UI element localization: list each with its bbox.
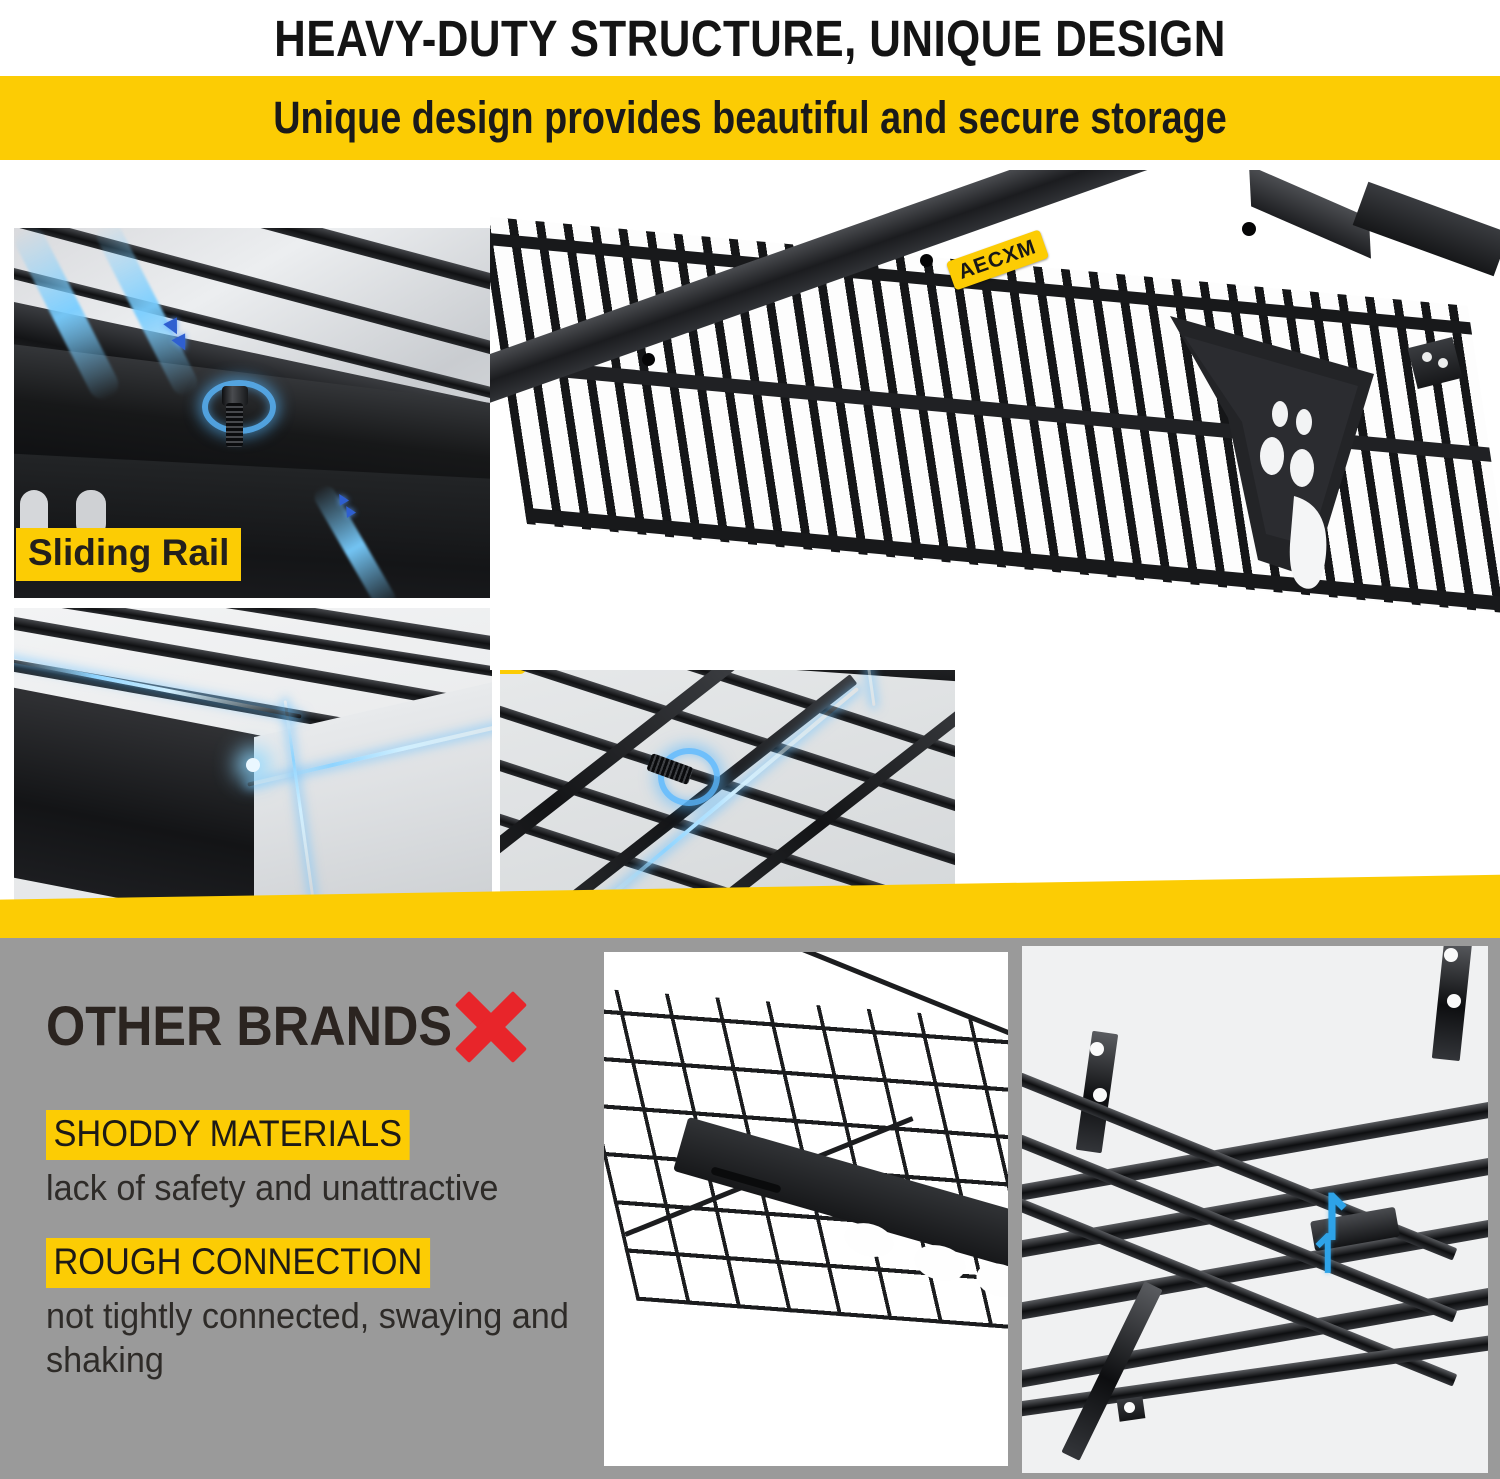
top-photo-zone: ▼▼ ▲▲ Sliding Rail [0,160,1500,920]
photo-caption-sliding-rail: Sliding Rail [16,528,241,581]
photo-competitor-wire-mesh-shelf [604,952,1008,1466]
page-subtitle: Unique design provides beautiful and sec… [120,76,1380,160]
bullet-body-2: not tightly connected, swaying and shaki… [46,1294,616,1382]
bracket-icon [1162,310,1422,600]
photo-shelf-corner-edge-glow [14,608,492,900]
bullet-head-1: SHODDY MATERIALS [46,1110,410,1160]
bullet-shoddy-materials: SHODDY MATERIALS lack of safety and unat… [46,1110,522,1210]
photo-hero-garage-shelf: AECXM [490,170,1500,670]
page-title: HEAVY-DUTY STRUCTURE, UNIQUE DESIGN [105,2,1395,74]
sway-arrow-icon-2: ↿ [1306,1228,1350,1282]
other-brands-heading: OTHER BRANDS [46,993,452,1058]
x-mark-icon [450,986,532,1068]
photo-competitor-glossy-frame-shelf: ↾ ↿ [1022,946,1488,1473]
photo-sliding-rail-closeup: ▼▼ ▲▲ Sliding Rail [14,228,492,598]
bullet-head-2: ROUGH CONNECTION [46,1238,430,1288]
bottom-comparison-zone: OTHER BRANDS SHODDY MATERIALS lack of sa… [0,938,1500,1479]
bullet-body-1: lack of safety and unattractive [46,1166,498,1210]
bullet-rough-connection: ROUGH CONNECTION not tightly connected, … [46,1238,646,1382]
product-infographic: HEAVY-DUTY STRUCTURE, UNIQUE DESIGN Uniq… [0,0,1500,1479]
sliding-rail-label: Sliding Rail [28,532,229,573]
